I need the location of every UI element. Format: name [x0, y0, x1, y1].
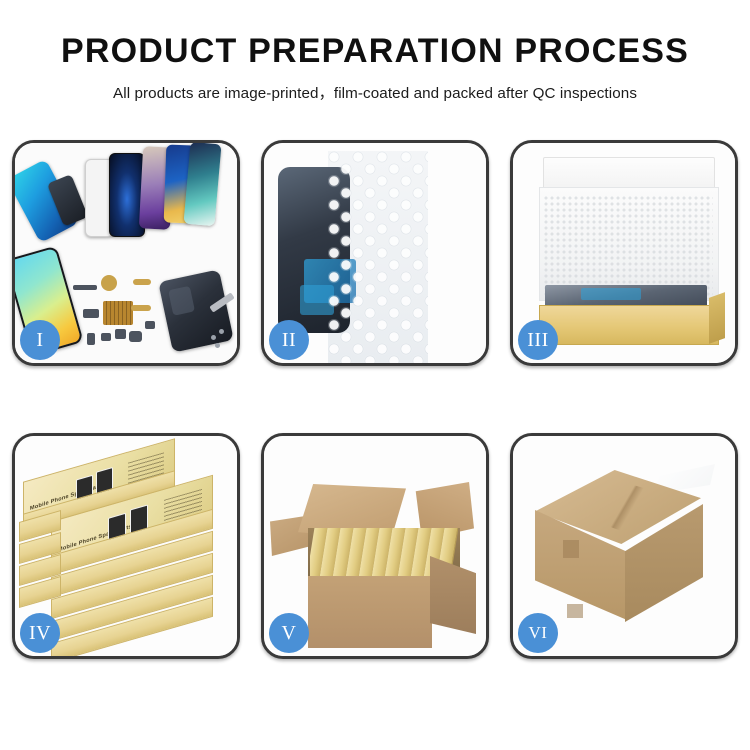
speaker-part [101, 275, 117, 291]
step-panel-3[interactable]: III [510, 140, 738, 366]
screw-part-3 [215, 343, 220, 348]
step-panel-5[interactable]: V [261, 433, 489, 659]
carton-tape-mark-2 [567, 604, 583, 618]
antenna-strip-part [73, 285, 97, 290]
page-header: PRODUCT PREPARATION PROCESS All products… [0, 0, 750, 103]
box-front-panel [539, 305, 719, 345]
box-side-panel [709, 292, 725, 344]
carton-tape-mark-1 [563, 540, 579, 558]
camera-module-part [83, 309, 99, 318]
logic-board-part [103, 301, 133, 325]
sim-tray-part [87, 333, 95, 345]
bubble-wrap-highlights [328, 151, 428, 363]
step-panel-6[interactable]: VI [510, 433, 738, 659]
battery-connector-part [115, 329, 126, 339]
process-steps-grid: I II III Mobile Pho [12, 140, 738, 659]
step-badge-3: III [518, 320, 558, 360]
taptic-engine-part [129, 331, 142, 342]
step-badge-6: VI [518, 613, 558, 653]
foam-lining [543, 195, 713, 299]
step-panel-2[interactable]: II [261, 140, 489, 366]
flex-cable-part-2 [131, 305, 151, 311]
step-panel-1[interactable]: I [12, 140, 240, 366]
carton-side-panel [430, 556, 476, 634]
step-badge-5: V [269, 613, 309, 653]
button-flex-part [145, 321, 155, 329]
step-badge-2: II [269, 320, 309, 360]
charging-port-part [101, 333, 111, 341]
step-badge-4: IV [20, 613, 60, 653]
screw-part-2 [219, 329, 224, 334]
flex-cable-part-1 [133, 279, 151, 285]
page-title: PRODUCT PREPARATION PROCESS [0, 34, 750, 70]
carton-front-panel [308, 576, 432, 648]
page-subtitle: All products are image-printed，film-coat… [0, 81, 750, 103]
screw-part-1 [211, 335, 216, 340]
step-panel-4[interactable]: Mobile Phone Spare Parts Mobile Phone Sp… [12, 433, 240, 659]
step-badge-1: I [20, 320, 60, 360]
